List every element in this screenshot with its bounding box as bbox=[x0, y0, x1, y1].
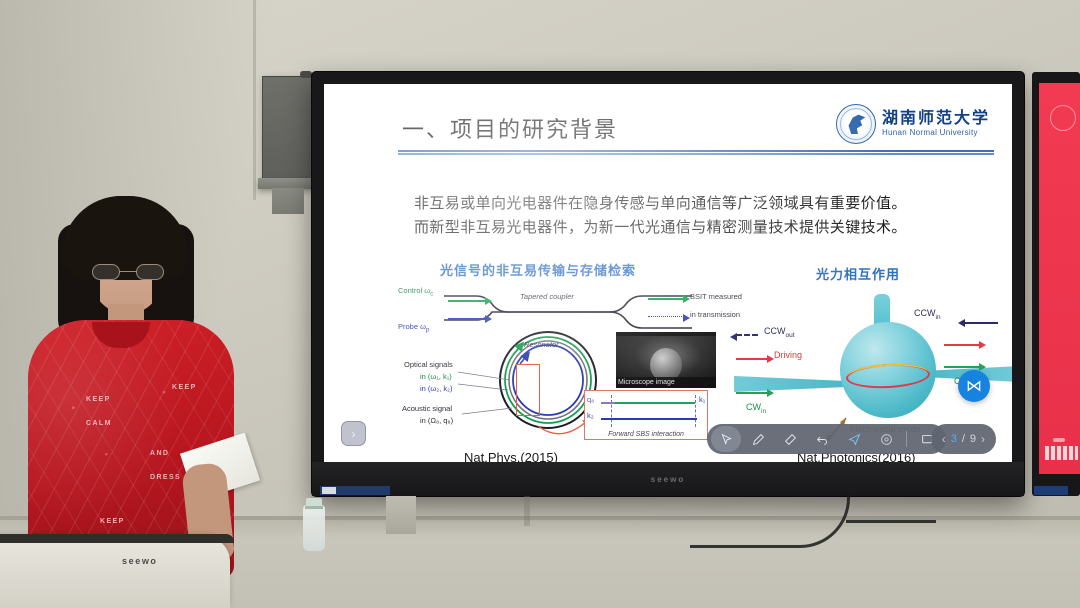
label-ccw-out: CCWout bbox=[764, 326, 795, 339]
secondary-seal-icon bbox=[1050, 105, 1076, 131]
interactive-display[interactable]: 一、项目的研究背景 湖南师范大学 Hunan Normal University… bbox=[312, 72, 1024, 496]
university-seal-icon bbox=[836, 104, 876, 144]
port-panel-label bbox=[322, 487, 336, 494]
shirt-text: DRESS bbox=[150, 474, 181, 481]
page-navigator[interactable]: ‹ 3 / 9 › bbox=[931, 424, 996, 454]
microscope-caption: Microscope image bbox=[616, 377, 716, 388]
right-panel-heading: 光力相互作用 bbox=[816, 264, 900, 283]
page-title: 一、项目的研究背景 bbox=[402, 112, 618, 144]
wall-mount-bracket bbox=[386, 496, 416, 534]
glasses-bridge bbox=[120, 271, 136, 272]
lectern bbox=[0, 536, 230, 608]
display-chin: seewo bbox=[312, 462, 1024, 496]
current-page: 3 bbox=[951, 433, 957, 445]
display-brand-label: seewo bbox=[651, 475, 685, 484]
lectern-brand-label: seewo bbox=[122, 556, 158, 566]
secondary-badge bbox=[1053, 438, 1065, 442]
label-resonator: Resonator bbox=[524, 340, 559, 349]
wall-box-stem bbox=[272, 188, 304, 214]
label-cw-in: CWin bbox=[746, 402, 766, 415]
shirt-text: KEEP bbox=[172, 384, 197, 391]
label-sbs-k2: k₂ bbox=[587, 411, 594, 420]
label-ccw-in: CCWin bbox=[914, 308, 941, 321]
lens-right bbox=[136, 264, 164, 280]
body-paragraph-2: 而新型非互易光电器件，为新一代光通信与精密测量技术提供关键技术。 bbox=[414, 216, 907, 237]
label-optical-1: in (ω₁, k₁) bbox=[420, 372, 452, 381]
microscope-image: Microscope image bbox=[616, 332, 716, 388]
label-optical-signals: Optical signals bbox=[404, 360, 453, 369]
water-bottle bbox=[303, 505, 325, 551]
lectern-top bbox=[0, 534, 234, 543]
label-sbs-q: q₈ bbox=[587, 395, 594, 404]
wall-mount-seam bbox=[524, 496, 530, 526]
secondary-display-tag bbox=[1034, 486, 1068, 495]
display-cable bbox=[690, 494, 850, 548]
cursor-icon[interactable] bbox=[711, 426, 741, 452]
shirt-text: KEEP bbox=[86, 396, 111, 403]
university-name-cn: 湖南师范大学 bbox=[882, 110, 990, 128]
label-acoustic-1: in (Ω₈, q₈) bbox=[420, 416, 453, 425]
secondary-display[interactable] bbox=[1032, 72, 1080, 496]
highlight-box bbox=[516, 364, 540, 416]
shirt-text: CALM bbox=[86, 420, 112, 427]
lens-left bbox=[92, 264, 120, 280]
label-sbs-k1: k₁ bbox=[699, 395, 705, 404]
fiber-left bbox=[734, 376, 858, 392]
label-control: Control ωc bbox=[398, 286, 433, 298]
pen-icon[interactable] bbox=[743, 426, 773, 452]
display-cable-run bbox=[846, 520, 936, 523]
display-bezel-inner: 一、项目的研究背景 湖南师范大学 Hunan Normal University… bbox=[324, 84, 1012, 462]
left-citation: Nat.Phys.(2015) bbox=[464, 450, 558, 462]
title-divider bbox=[398, 150, 994, 155]
total-pages: 9 bbox=[970, 433, 976, 445]
secondary-strip bbox=[1045, 446, 1078, 460]
eraser-icon[interactable] bbox=[775, 426, 805, 452]
glasses bbox=[92, 264, 164, 280]
page-separator: / bbox=[962, 433, 965, 445]
label-driving: Driving bbox=[774, 350, 802, 360]
label-tapered-coupler: Tapered coupler bbox=[520, 292, 574, 301]
undo-icon[interactable] bbox=[807, 426, 837, 452]
left-figure: Control ωc Probe ωp Tapered coupler Reso… bbox=[398, 280, 718, 448]
label-optical-2: in (ω₂, k₂) bbox=[420, 384, 453, 393]
shirt-text: KEEP bbox=[100, 518, 125, 525]
prev-page-button[interactable]: ‹ bbox=[942, 432, 946, 446]
university-name-en: Hunan Normal University bbox=[882, 128, 990, 138]
room-scene: 一、项目的研究背景 湖南师范大学 Hunan Normal University… bbox=[0, 0, 1080, 608]
left-panel-heading: 光信号的非互易传输与存储检索 bbox=[440, 260, 636, 279]
sbs-inset-box: q₈ k₂ k₁ Forward SBS interaction bbox=[584, 390, 708, 440]
chevron-right-icon[interactable]: › bbox=[341, 421, 366, 446]
university-logo: 湖南师范大学 Hunan Normal University bbox=[836, 104, 990, 144]
shape-circle-icon[interactable] bbox=[871, 426, 901, 452]
next-page-button[interactable]: › bbox=[981, 432, 985, 446]
toolbar-divider bbox=[906, 431, 907, 447]
secondary-display-content bbox=[1039, 83, 1080, 474]
wall-box-nub bbox=[300, 71, 312, 78]
label-probe: Probe ωp bbox=[398, 322, 429, 334]
sbs-caption: Forward SBS interaction bbox=[585, 431, 707, 438]
seewo-brand-icon[interactable]: ⋈ bbox=[958, 370, 990, 402]
shirt-text: AND bbox=[150, 450, 169, 457]
label-acoustic-signals: Acoustic signal bbox=[402, 404, 452, 413]
bottle-ring bbox=[305, 506, 323, 509]
presentation-slide[interactable]: 一、项目的研究背景 湖南师范大学 Hunan Normal University… bbox=[324, 84, 1012, 462]
body-paragraph-1: 非互易或单向光电器件在隐身传感与单向通信等广泛领域具有重要价值。 bbox=[414, 192, 907, 213]
laser-pointer-icon[interactable] bbox=[839, 426, 869, 452]
wall-seam bbox=[253, 0, 256, 200]
annotation-toolbar[interactable] bbox=[707, 424, 946, 454]
